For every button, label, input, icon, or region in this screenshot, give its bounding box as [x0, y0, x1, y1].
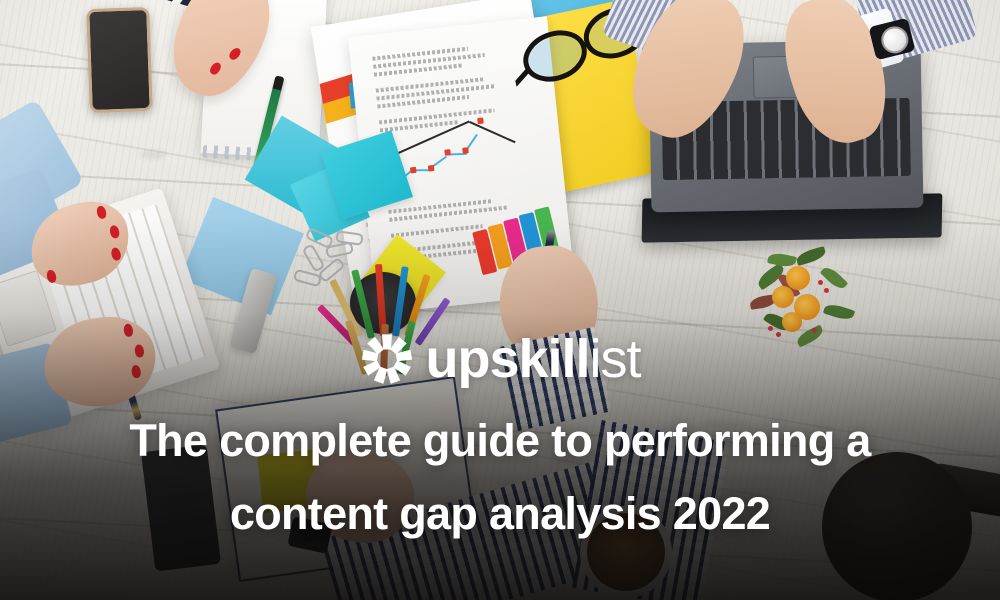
- berry: [824, 288, 829, 293]
- flower-bloom: [782, 312, 802, 332]
- berry: [818, 280, 823, 285]
- smartphone: [86, 7, 153, 113]
- fingernail: [227, 46, 242, 62]
- hero-headline: The complete guide to performing a conte…: [40, 404, 960, 550]
- upskillist-pinwheel-icon: [359, 331, 415, 387]
- headline-line-1: The complete guide to performing a: [40, 404, 960, 477]
- fingernail: [109, 224, 121, 239]
- leaf: [795, 246, 827, 266]
- hero-banner: upskillist The complete guide to perform…: [0, 0, 1000, 600]
- fingernail: [208, 61, 223, 77]
- brand-wordmark: upskillist: [425, 331, 640, 387]
- flower-bloom: [772, 286, 794, 308]
- fingernail: [96, 205, 108, 220]
- brand-word-bold: upskill: [425, 329, 589, 389]
- flower-bloom: [786, 266, 810, 290]
- headline-line-2: content gap analysis 2022: [40, 477, 960, 550]
- leaf: [823, 302, 855, 323]
- brand-lockup: upskillist: [0, 331, 1000, 387]
- wood-grain: [140, 150, 166, 159]
- brand-word-light: ist: [590, 329, 641, 389]
- fingernail: [110, 247, 122, 262]
